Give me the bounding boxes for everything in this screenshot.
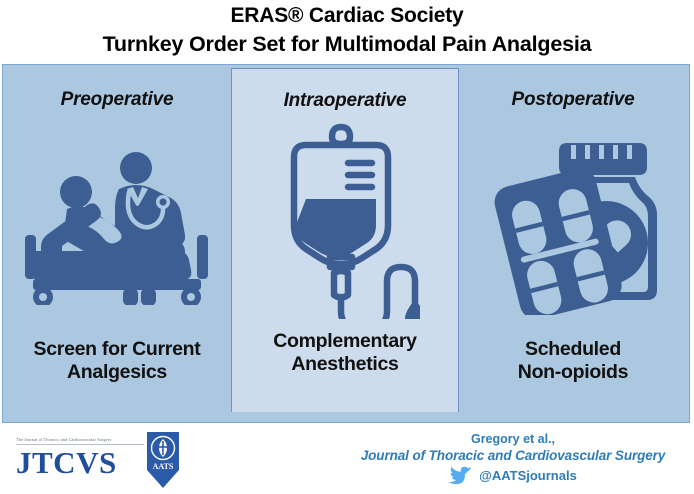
twitter-row: @AATSjournals bbox=[348, 466, 678, 486]
title-line-1: ERAS® Cardiac Society bbox=[0, 2, 694, 30]
panel-intraoperative-caption-line-2: Anesthetics bbox=[291, 353, 398, 375]
footer: The Journal of Thoracic and Cardiovascul… bbox=[0, 425, 694, 494]
phase-panel-group: Preoperative bbox=[2, 64, 690, 423]
title-line-2: Turnkey Order Set for Multimodal Pain An… bbox=[0, 30, 694, 58]
panel-preoperative-caption-line-1: Screen for Current bbox=[34, 338, 201, 360]
attribution-journal: Journal of Thoracic and Cardiovascular S… bbox=[348, 447, 678, 464]
twitter-bird-icon bbox=[449, 466, 473, 486]
panel-preoperative-icon-wrap bbox=[3, 111, 231, 338]
panel-postoperative-header: Postoperative bbox=[511, 89, 634, 111]
panel-preoperative-header: Preoperative bbox=[61, 89, 174, 111]
twitter-handle: @AATSjournals bbox=[479, 468, 577, 484]
pill-blister-pack-and-bottle-icon bbox=[475, 135, 671, 315]
panel-intraoperative-icon-wrap bbox=[232, 112, 458, 330]
attribution-block: Gregory et al., Journal of Thoracic and … bbox=[348, 431, 678, 486]
panel-postoperative-caption-line-2: Non-opioids bbox=[518, 361, 628, 383]
jtcvs-wordmark: JTCVS bbox=[16, 446, 144, 479]
panel-postoperative-icon-wrap bbox=[459, 111, 687, 338]
panel-preoperative-caption: Screen for Current Analgesics bbox=[28, 338, 207, 384]
aats-shield-badge-icon: AATS bbox=[141, 430, 185, 490]
panel-preoperative: Preoperative bbox=[3, 65, 231, 422]
page-title: ERAS® Cardiac Society Turnkey Order Set … bbox=[0, 2, 694, 58]
panel-preoperative-caption-line-2: Analgesics bbox=[67, 361, 167, 383]
panel-postoperative: Postoperative bbox=[459, 65, 687, 422]
panel-postoperative-caption-line-1: Scheduled bbox=[525, 338, 621, 360]
panel-intraoperative-caption-line-1: Complementary bbox=[273, 330, 416, 352]
aats-badge-label: AATS bbox=[153, 462, 174, 471]
attribution-authors: Gregory et al., bbox=[348, 431, 678, 447]
jtcvs-logo: The Journal of Thoracic and Cardiovascul… bbox=[16, 437, 144, 479]
panel-intraoperative: Intraoperative bbox=[231, 68, 459, 412]
patient-in-hospital-bed-with-clinician-icon bbox=[19, 145, 215, 305]
iv-drip-bag-icon bbox=[270, 123, 420, 319]
panel-postoperative-caption: Scheduled Non-opioids bbox=[512, 338, 634, 384]
infographic-sheet: ERAS® Cardiac Society Turnkey Order Set … bbox=[0, 0, 694, 494]
panel-intraoperative-caption: Complementary Anesthetics bbox=[267, 330, 422, 376]
panel-intraoperative-header: Intraoperative bbox=[284, 90, 407, 112]
jtcvs-tagline: The Journal of Thoracic and Cardiovascul… bbox=[16, 437, 144, 445]
